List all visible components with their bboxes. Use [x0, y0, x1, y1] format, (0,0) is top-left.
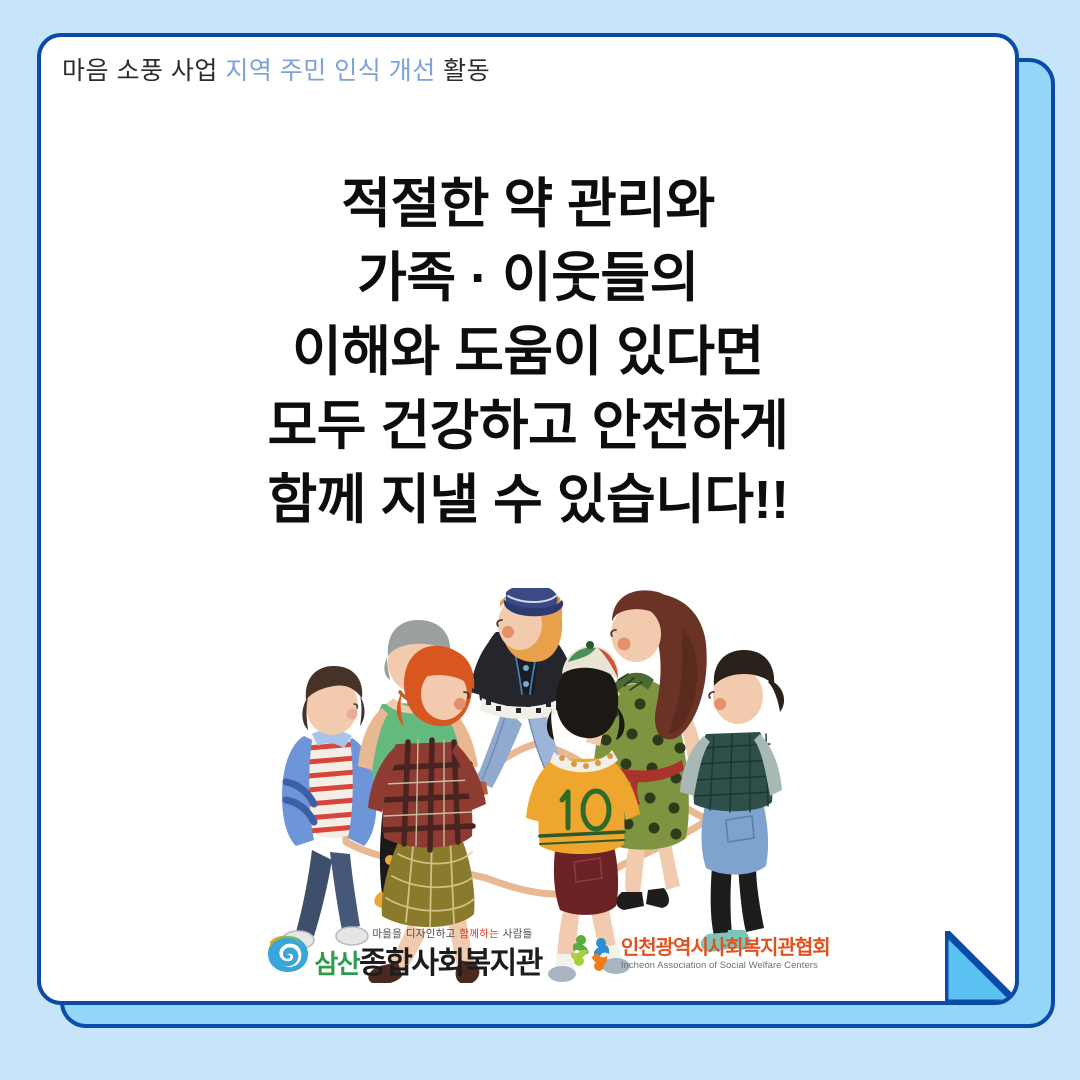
logo-samsan-name-main: 종합사회복지관 [359, 946, 542, 981]
eyebrow-segment-activity: 활동 [443, 57, 490, 85]
logo-iaswc-name-korean: 인천광역시사회복지관협회 [621, 937, 830, 958]
headline-line-5: 함께 지낼 수 있습니다!! [41, 463, 1015, 537]
logo-samsan-name-prefix: 삼산 [314, 950, 359, 980]
logo-strip: 마을을 디자인하고 함께하는 사람들 삼산종합사회복지관 [41, 915, 1015, 993]
swirl-face-icon [266, 934, 310, 974]
poster-card: 마음 소풍 사업 지역 주민 인식 개선 활동 적절한 약 관리와 가족 · 이… [37, 33, 1019, 1005]
logo-iaswc-name-english: Incheon Association of Social Welfare Ce… [621, 960, 818, 971]
four-people-pinwheel-icon [568, 933, 614, 975]
headline-line-2: 가족 · 이웃들의 [41, 241, 1015, 315]
headline-block: 적절한 약 관리와 가족 · 이웃들의 이해와 도움이 있다면 모두 건강하고 … [41, 167, 1015, 537]
headline-line-4: 모두 건강하고 안전하게 [41, 389, 1015, 463]
logo-incheon-association-of-social-welfare-centers: 인천광역시사회복지관협회 Incheon Association of Soci… [568, 933, 830, 975]
logo-samsan-name: 삼산종합사회복지관 [314, 938, 542, 982]
eyebrow-segment-topic: 지역 주민 인식 개선 [225, 57, 435, 85]
eyebrow-segment-program: 마음 소풍 사업 [62, 57, 218, 85]
eyebrow-heading: 마음 소풍 사업 지역 주민 인식 개선 활동 [62, 58, 490, 86]
headline-line-3: 이해와 도움이 있다면 [41, 315, 1015, 389]
logo-samsan-community-welfare-center: 마을을 디자인하고 함께하는 사람들 삼산종합사회복지관 [266, 926, 542, 982]
headline-line-1: 적절한 약 관리와 [41, 167, 1015, 241]
